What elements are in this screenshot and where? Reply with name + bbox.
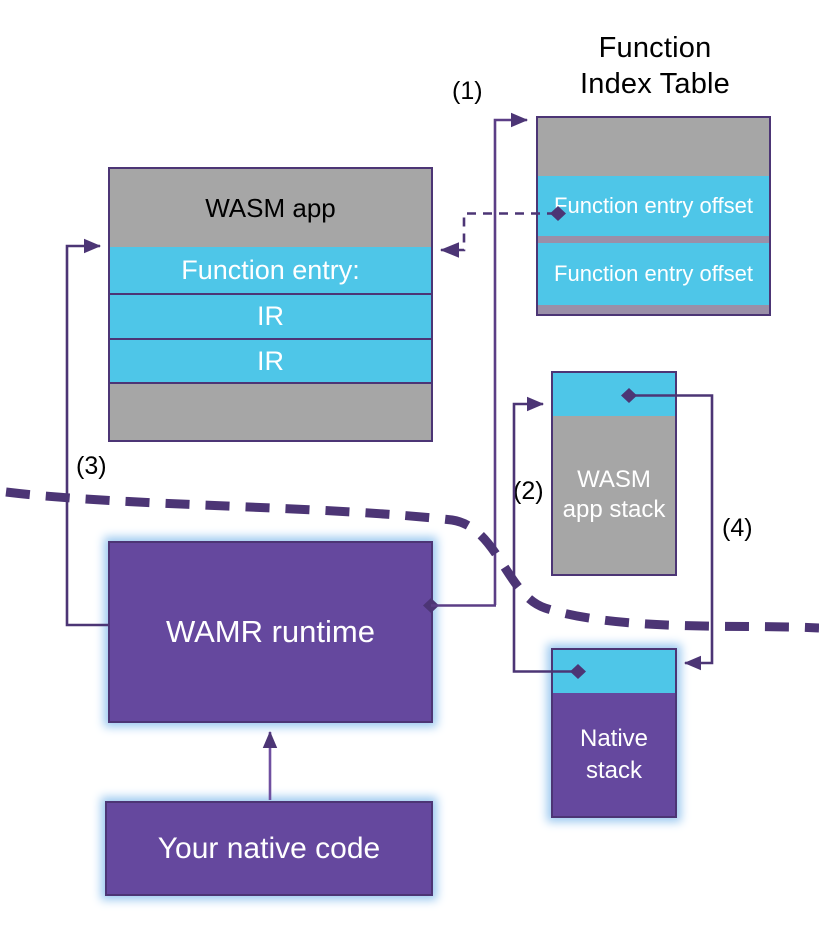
connector-2-path	[514, 404, 576, 672]
diagram-canvas: Function Index Table Function entry offs…	[0, 0, 819, 925]
connector-offset-dashed-path	[441, 214, 556, 251]
connector-3-path	[67, 246, 110, 625]
connector-1-path	[495, 120, 527, 605]
boundary-dashed-curve	[6, 492, 819, 628]
connector-overlay	[0, 0, 819, 925]
